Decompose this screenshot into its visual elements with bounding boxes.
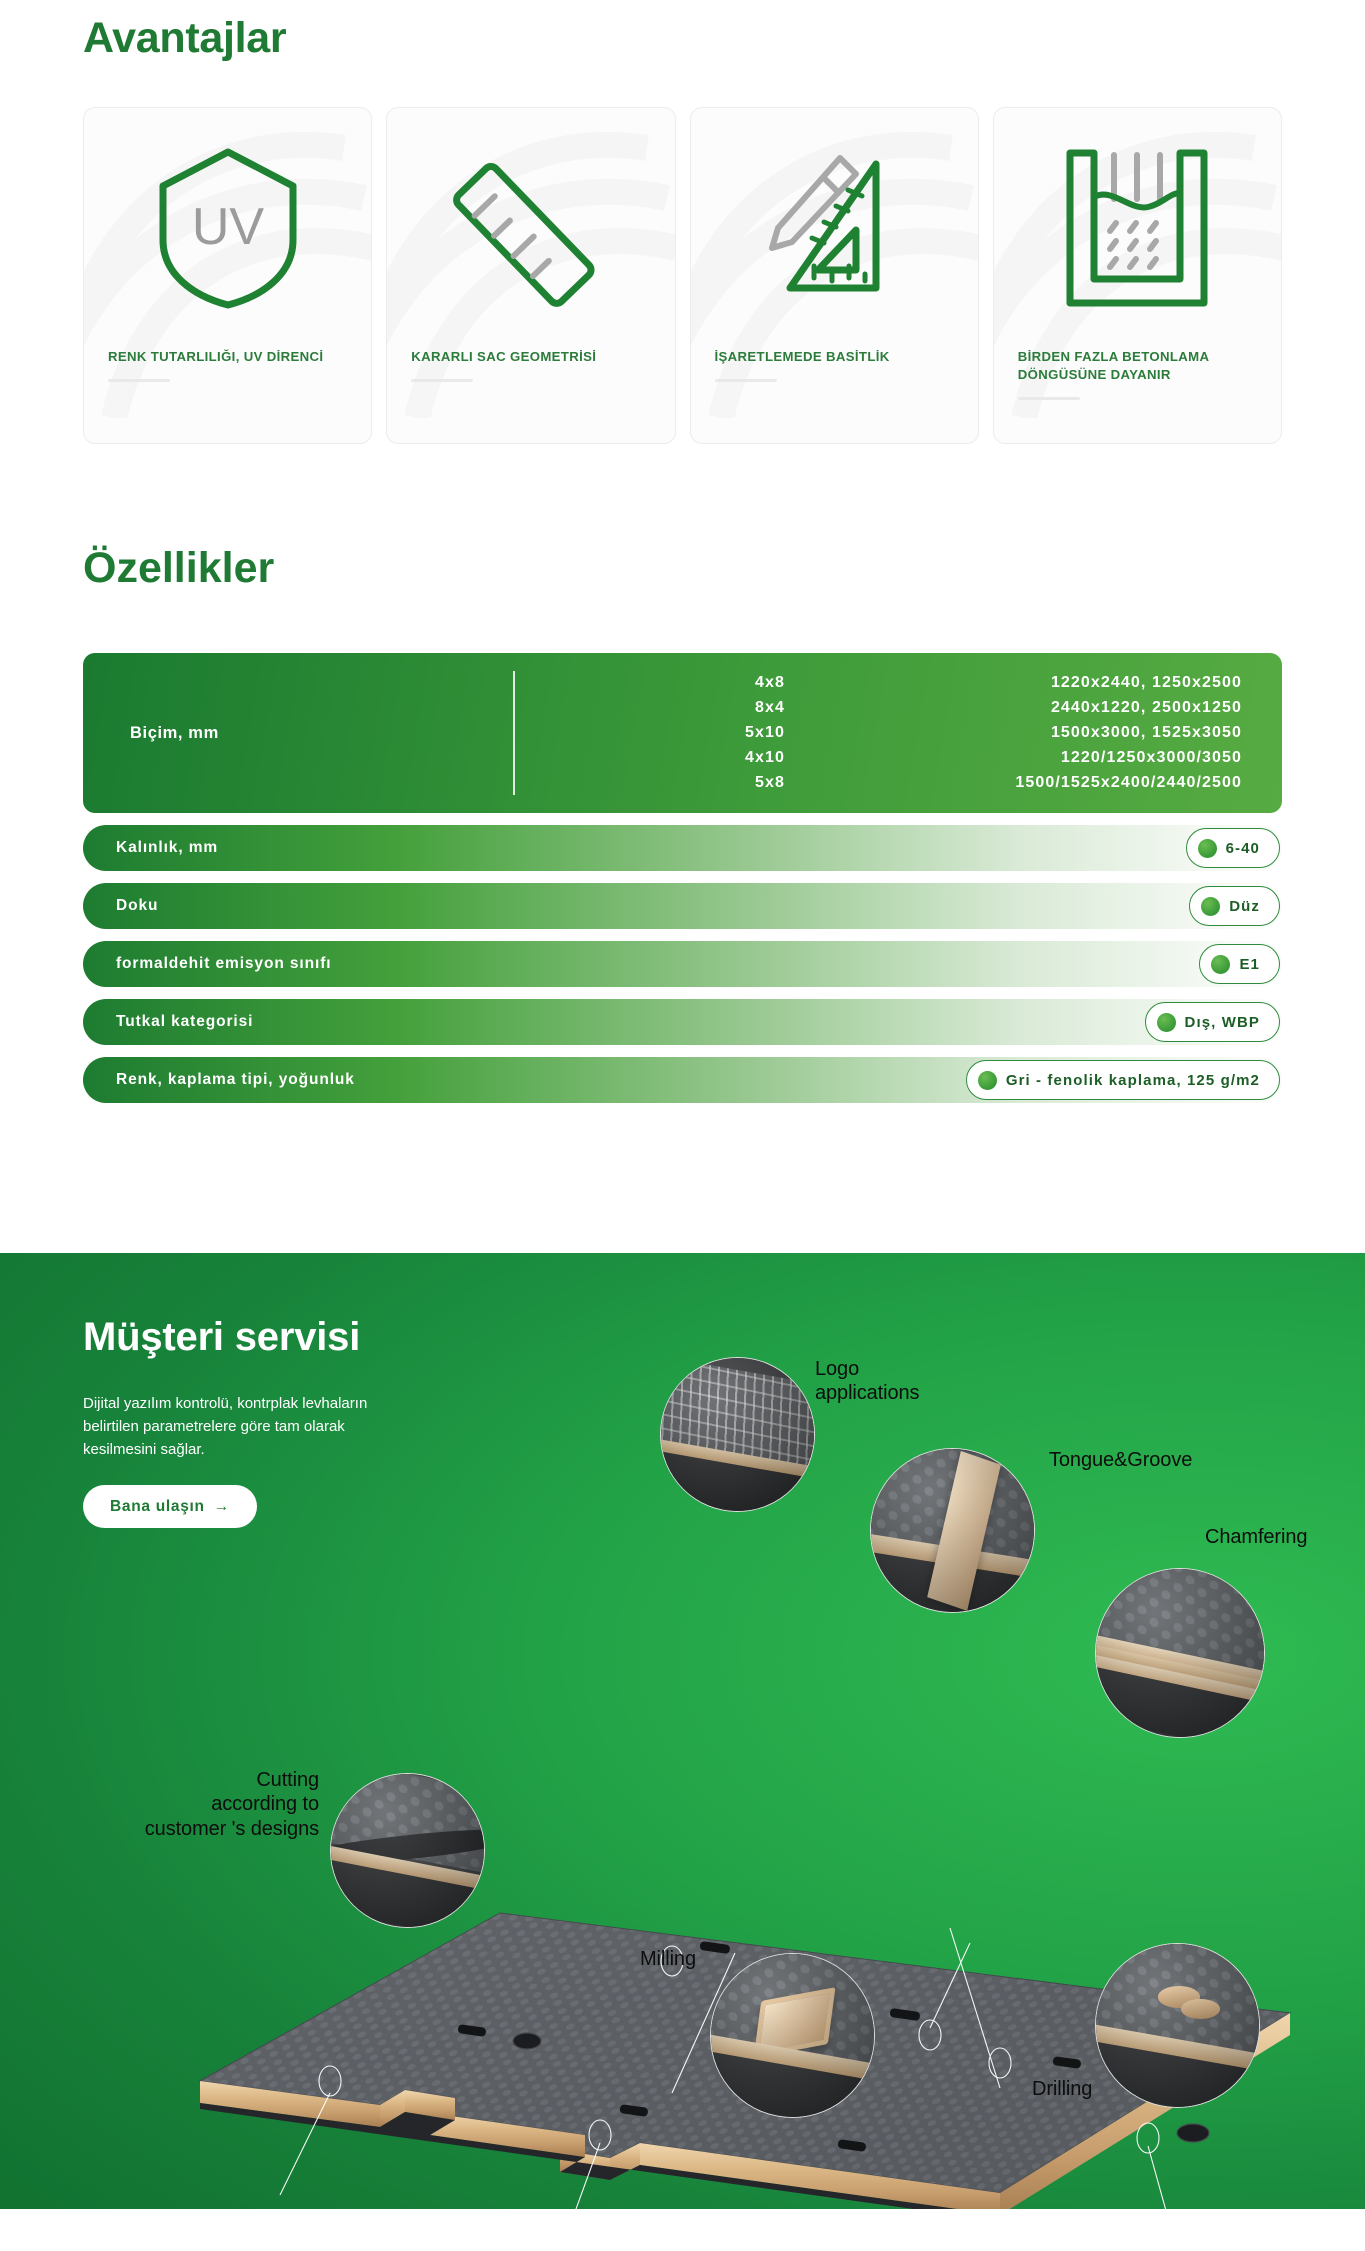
table-row: 4x8 1220x2440, 1250x2500: [515, 674, 1242, 692]
spec-row-label: Kalınlık, mm: [83, 839, 218, 857]
spec-row-value: Dış, WBP: [1185, 1014, 1260, 1031]
contact-button[interactable]: Bana ulaşın →: [83, 1485, 257, 1528]
bullet-dot-icon: [978, 1071, 997, 1090]
spec-row-value: 6-40: [1226, 840, 1260, 857]
customer-service-section: Müşteri servisi Dijital yazılım kontrolü…: [0, 1253, 1365, 2209]
card-underline: [411, 379, 473, 382]
contact-button-label: Bana ulaşın: [110, 1498, 205, 1516]
table-row: 5x10 1500x3000, 1525x3050: [515, 724, 1242, 742]
format-dimensions: 1500/1525x2400/2440/2500: [815, 774, 1242, 792]
callout-chamfering: Chamfering: [1205, 1525, 1307, 1549]
table-row: 8x4 2440x1220, 2500x1250: [515, 699, 1242, 717]
bullet-dot-icon: [1198, 839, 1217, 858]
spec-value-pill: 6-40: [1186, 828, 1280, 868]
table-row: 5x8 1500/1525x2400/2440/2500: [515, 774, 1242, 792]
uv-shield-icon: UV: [84, 108, 371, 348]
advantage-card-label: İŞARETLEMEDE BASİTLİK: [691, 348, 978, 366]
inset-milling: [710, 1953, 875, 2118]
specifications-table: Biçim, mm 4x8 1220x2440, 1250x2500 8x4 2…: [0, 593, 1365, 1103]
spec-row-value: Gri - fenolik kaplama, 125 g/m2: [1006, 1072, 1260, 1089]
table-row: 4x10 1220/1250x3000/3050: [515, 749, 1242, 767]
page-root: Avantajlar UV RENK TUTARLIL: [0, 0, 1365, 2209]
advantage-card-label: BİRDEN FAZLA BETONLAMA DÖNGÜSÜNE DAYANIR: [994, 348, 1281, 384]
spec-value-pill: Düz: [1189, 886, 1280, 926]
advantage-card-uv[interactable]: UV RENK TUTARLILIĞI, UV DİRENCİ: [83, 107, 372, 444]
format-code: 4x10: [515, 749, 815, 767]
format-code: 4x8: [515, 674, 815, 692]
inset-logo-applications: [660, 1357, 815, 1512]
spec-row-thickness: Kalınlık, mm 6-40: [83, 825, 1282, 871]
uv-icon-text: UV: [192, 198, 265, 256]
spec-row-texture: Doku Düz: [83, 883, 1282, 929]
arrow-right-icon: →: [214, 1498, 230, 1516]
format-dimensions: 1500x3000, 1525x3050: [815, 724, 1242, 742]
inset-tongue-and-groove: [870, 1448, 1035, 1613]
format-code: 8x4: [515, 699, 815, 717]
bullet-dot-icon: [1211, 955, 1230, 974]
ruler-icon: [387, 108, 674, 348]
advantages-heading: Avantajlar: [0, 0, 1365, 63]
callout-logo-applications: Logo applications: [815, 1357, 919, 1406]
card-underline: [715, 379, 777, 382]
spec-row-label: Tutkal kategorisi: [83, 1013, 253, 1031]
advantages-section: Avantajlar UV RENK TUTARLIL: [0, 0, 1365, 444]
advantage-card-label: RENK TUTARLILIĞI, UV DİRENCİ: [84, 348, 371, 366]
spec-row-label: Renk, kaplama tipi, yoğunluk: [83, 1071, 355, 1089]
format-dimensions: 1220/1250x3000/3050: [815, 749, 1242, 767]
advantage-card-label: KARARLI SAC GEOMETRİSİ: [387, 348, 674, 366]
spec-format-row: Biçim, mm 4x8 1220x2440, 1250x2500 8x4 2…: [83, 653, 1282, 813]
format-dimensions: 1220x2440, 1250x2500: [815, 674, 1242, 692]
bullet-dot-icon: [1157, 1013, 1176, 1032]
spec-format-values: 4x8 1220x2440, 1250x2500 8x4 2440x1220, …: [515, 674, 1282, 792]
spec-value-pill: E1: [1199, 944, 1280, 984]
callout-cutting: Cutting according to customer 's designs: [119, 1768, 319, 1841]
concrete-mold-icon: [994, 108, 1281, 348]
spec-row-glue: Tutkal kategorisi Dış, WBP: [83, 999, 1282, 1045]
callout-milling: Milling: [640, 1947, 696, 1971]
format-code: 5x10: [515, 724, 815, 742]
spec-row-value: E1: [1239, 956, 1260, 973]
customer-service-title: Müşteri servisi: [83, 1315, 360, 1360]
spec-row-color: Renk, kaplama tipi, yoğunluk Gri - fenol…: [83, 1057, 1282, 1103]
spec-value-pill: Dış, WBP: [1145, 1002, 1280, 1042]
spec-row-label: Doku: [83, 897, 158, 915]
spec-row-value: Düz: [1229, 898, 1260, 915]
specifications-heading: Özellikler: [0, 544, 1365, 593]
inset-cutting: [330, 1773, 485, 1928]
customer-service-description: Dijital yazılım kontrolü, kontrplak levh…: [83, 1393, 413, 1461]
spec-value-pill: Gri - fenolik kaplama, 125 g/m2: [966, 1060, 1280, 1100]
spec-format-label: Biçim, mm: [83, 724, 513, 743]
format-code: 5x8: [515, 774, 815, 792]
callout-drilling: Drilling: [1032, 2077, 1092, 2101]
spec-row-formaldehyde: formaldehit emisyon sınıfı E1: [83, 941, 1282, 987]
advantage-card-geometry[interactable]: KARARLI SAC GEOMETRİSİ: [386, 107, 675, 444]
inset-drilling: [1095, 1943, 1260, 2108]
card-underline: [108, 379, 170, 382]
specifications-section: Özellikler Biçim, mm 4x8 1220x2440, 1250…: [0, 444, 1365, 1103]
spec-row-label: formaldehit emisyon sınıfı: [83, 955, 331, 973]
pencil-triangle-ruler-icon: [691, 108, 978, 348]
inset-chamfering: [1095, 1568, 1265, 1738]
advantage-card-durability[interactable]: BİRDEN FAZLA BETONLAMA DÖNGÜSÜNE DAYANIR: [993, 107, 1282, 444]
format-dimensions: 2440x1220, 2500x1250: [815, 699, 1242, 717]
card-underline: [1018, 397, 1080, 400]
callout-tongue-and-groove: Tongue&Groove: [1049, 1448, 1192, 1472]
bullet-dot-icon: [1201, 897, 1220, 916]
advantages-grid: UV RENK TUTARLILIĞI, UV DİRENCİ: [0, 63, 1365, 444]
advantage-card-marking[interactable]: İŞARETLEMEDE BASİTLİK: [690, 107, 979, 444]
